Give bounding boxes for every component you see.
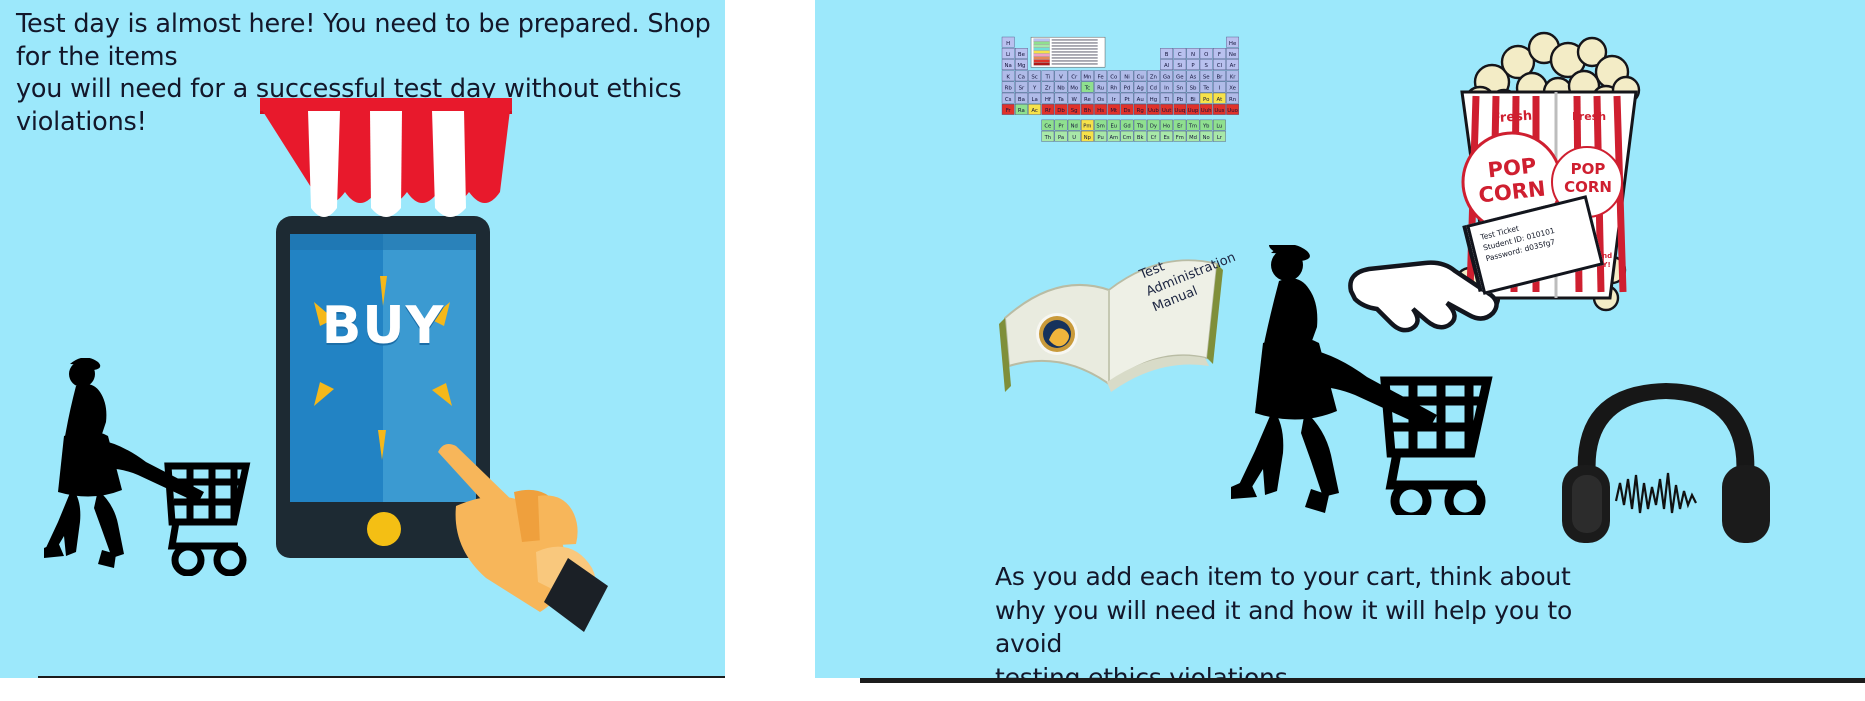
svg-text:Sc: Sc bbox=[1031, 74, 1037, 80]
periodic-table-grid: HHeLiBeBCNOFNeNaMgAlSiPSClArKCaScTiVCrMn… bbox=[1000, 35, 1252, 163]
svg-text:Ca: Ca bbox=[1018, 74, 1025, 80]
svg-text:Tb: Tb bbox=[1136, 124, 1144, 130]
svg-text:Rf: Rf bbox=[1045, 108, 1051, 114]
svg-text:Po: Po bbox=[1203, 97, 1209, 103]
svg-text:Ge: Ge bbox=[1176, 74, 1184, 80]
svg-text:Hf: Hf bbox=[1045, 97, 1051, 103]
svg-text:Se: Se bbox=[1203, 74, 1210, 80]
svg-text:Te: Te bbox=[1202, 86, 1209, 92]
svg-text:Tm: Tm bbox=[1188, 124, 1197, 130]
slide-right-panel: HHeLiBeBCNOFNeNaMgAlSiPSClArKCaScTiVCrMn… bbox=[815, 0, 1865, 678]
svg-text:Pb: Pb bbox=[1176, 97, 1183, 103]
svg-text:Tc: Tc bbox=[1084, 86, 1090, 92]
svg-text:Eu: Eu bbox=[1111, 124, 1118, 130]
popcorn-fresh-label-right: Fresh bbox=[1562, 110, 1616, 123]
online-store-phone-graphic: BUY bbox=[252, 88, 520, 558]
svg-text:As: As bbox=[1190, 74, 1197, 80]
svg-text:Cs: Cs bbox=[1005, 97, 1012, 103]
svg-text:Uus: Uus bbox=[1214, 108, 1224, 114]
svg-text:V: V bbox=[1059, 74, 1063, 80]
svg-text:Am: Am bbox=[1109, 135, 1118, 141]
svg-text:Al: Al bbox=[1164, 63, 1169, 69]
svg-text:Sm: Sm bbox=[1096, 124, 1104, 130]
svg-text:Ga: Ga bbox=[1163, 74, 1170, 80]
svg-text:Sr: Sr bbox=[1019, 86, 1025, 92]
svg-text:Bh: Bh bbox=[1084, 108, 1091, 114]
svg-text:Ta: Ta bbox=[1057, 97, 1064, 103]
svg-text:N: N bbox=[1191, 52, 1195, 58]
svg-text:K: K bbox=[1006, 74, 1010, 80]
svg-text:At: At bbox=[1217, 97, 1223, 103]
svg-text:Kr: Kr bbox=[1230, 74, 1237, 80]
svg-text:Bk: Bk bbox=[1137, 135, 1144, 141]
svg-text:Ho: Ho bbox=[1163, 124, 1170, 130]
svg-text:Cf: Cf bbox=[1151, 135, 1157, 141]
svg-text:Uup: Uup bbox=[1188, 108, 1199, 114]
svg-text:Cr: Cr bbox=[1071, 74, 1078, 80]
svg-text:Ra: Ra bbox=[1018, 108, 1025, 114]
svg-text:Ac: Ac bbox=[1031, 108, 1038, 114]
svg-text:Rb: Rb bbox=[1005, 86, 1013, 92]
svg-text:Pd: Pd bbox=[1124, 86, 1131, 92]
svg-text:Nd: Nd bbox=[1071, 124, 1078, 130]
svg-text:Th: Th bbox=[1044, 135, 1051, 141]
svg-text:Ag: Ag bbox=[1137, 86, 1144, 92]
slide-left-panel: Test day is almost here! You need to be … bbox=[0, 0, 725, 678]
svg-text:B: B bbox=[1165, 52, 1169, 58]
svg-text:H: H bbox=[1006, 41, 1010, 47]
svg-text:W: W bbox=[1072, 97, 1078, 103]
woman-with-shopping-cart-silhouette bbox=[1225, 245, 1515, 515]
svg-text:Si: Si bbox=[1177, 63, 1182, 69]
svg-text:Yb: Yb bbox=[1202, 124, 1210, 130]
svg-text:Uut: Uut bbox=[1162, 108, 1171, 114]
svg-text:No: No bbox=[1203, 135, 1210, 141]
svg-text:Cm: Cm bbox=[1123, 135, 1132, 141]
svg-text:Ce: Ce bbox=[1044, 124, 1051, 130]
svg-text:Ds: Ds bbox=[1124, 108, 1131, 114]
svg-text:Na: Na bbox=[1005, 63, 1012, 69]
slide-right-caption: As you add each item to your cart, think… bbox=[995, 560, 1615, 678]
svg-text:Rg: Rg bbox=[1137, 108, 1144, 114]
svg-text:Os: Os bbox=[1097, 97, 1104, 103]
svg-text:Nb: Nb bbox=[1057, 86, 1065, 92]
svg-text:Br: Br bbox=[1216, 74, 1223, 80]
svg-text:Pa: Pa bbox=[1058, 135, 1064, 141]
svg-text:Es: Es bbox=[1164, 135, 1170, 141]
svg-text:Hg: Hg bbox=[1150, 97, 1157, 103]
svg-text:He: He bbox=[1229, 41, 1237, 47]
pointing-hand-icon bbox=[418, 388, 608, 638]
svg-text:Db: Db bbox=[1057, 108, 1065, 114]
svg-text:Lr: Lr bbox=[1217, 135, 1223, 141]
svg-text:Cd: Cd bbox=[1150, 86, 1157, 92]
svg-text:Zn: Zn bbox=[1150, 74, 1157, 80]
svg-text:Mo: Mo bbox=[1070, 86, 1078, 92]
svg-text:Ni: Ni bbox=[1124, 74, 1130, 80]
svg-text:Cu: Cu bbox=[1137, 74, 1144, 80]
svg-text:Y: Y bbox=[1032, 86, 1037, 92]
svg-text:La: La bbox=[1031, 97, 1037, 103]
svg-text:Uuh: Uuh bbox=[1201, 108, 1212, 114]
headphones-icon bbox=[1560, 365, 1775, 545]
store-awning-icon bbox=[252, 88, 520, 228]
svg-text:Ne: Ne bbox=[1229, 52, 1237, 58]
svg-text:Sn: Sn bbox=[1176, 86, 1183, 92]
svg-text:Re: Re bbox=[1084, 97, 1092, 103]
popcorn-brand-line2-right: CORN bbox=[1562, 178, 1614, 196]
svg-text:Mn: Mn bbox=[1083, 74, 1091, 80]
slide-left-bottom-rule bbox=[38, 676, 725, 678]
svg-text:Co: Co bbox=[1110, 74, 1117, 80]
svg-text:Pt: Pt bbox=[1124, 97, 1129, 103]
phone-home-button[interactable] bbox=[367, 512, 401, 546]
svg-text:Pm: Pm bbox=[1083, 124, 1091, 130]
svg-text:U: U bbox=[1072, 135, 1076, 141]
periodic-table-of-elements: HHeLiBeBCNOFNeNaMgAlSiPSClArKCaScTiVCrMn… bbox=[1000, 35, 1252, 163]
svg-text:Au: Au bbox=[1137, 97, 1144, 103]
svg-text:Fr: Fr bbox=[1006, 108, 1012, 114]
svg-text:Er: Er bbox=[1177, 124, 1183, 130]
popcorn-brand-line1-right: POP bbox=[1562, 160, 1614, 178]
svg-text:Md: Md bbox=[1189, 135, 1197, 141]
svg-text:Ti: Ti bbox=[1044, 74, 1050, 80]
svg-text:Ar: Ar bbox=[1230, 63, 1237, 69]
svg-text:F: F bbox=[1218, 52, 1221, 58]
svg-text:O: O bbox=[1204, 52, 1208, 58]
svg-text:Uub: Uub bbox=[1148, 108, 1159, 114]
svg-text:Bi: Bi bbox=[1190, 97, 1195, 103]
svg-text:C: C bbox=[1178, 52, 1182, 58]
svg-text:Rh: Rh bbox=[1110, 86, 1117, 92]
svg-text:Ba: Ba bbox=[1018, 97, 1025, 103]
svg-text:Uuq: Uuq bbox=[1174, 108, 1185, 114]
svg-text:S: S bbox=[1204, 63, 1208, 69]
svg-text:Li: Li bbox=[1006, 52, 1011, 58]
svg-text:Hs: Hs bbox=[1097, 108, 1104, 114]
svg-text:Fe: Fe bbox=[1098, 74, 1105, 80]
svg-text:In: In bbox=[1164, 86, 1169, 92]
svg-text:Cl: Cl bbox=[1217, 63, 1222, 69]
svg-text:Mt: Mt bbox=[1110, 108, 1117, 114]
woman-with-shopping-cart-silhouette bbox=[40, 358, 268, 576]
svg-text:Uuo: Uuo bbox=[1227, 108, 1238, 114]
slide-right-bottom-rule bbox=[860, 678, 1865, 683]
svg-text:Sb: Sb bbox=[1190, 86, 1197, 92]
svg-text:Dy: Dy bbox=[1150, 124, 1157, 130]
svg-text:Be: Be bbox=[1018, 52, 1026, 58]
svg-text:Sg: Sg bbox=[1071, 108, 1078, 114]
svg-text:Rn: Rn bbox=[1229, 97, 1236, 103]
slide-stage: Test day is almost here! You need to be … bbox=[0, 0, 1865, 701]
buy-label[interactable]: BUY bbox=[290, 296, 476, 356]
svg-text:Gd: Gd bbox=[1123, 124, 1130, 130]
svg-text:Lu: Lu bbox=[1216, 124, 1222, 130]
svg-text:Zr: Zr bbox=[1045, 86, 1052, 92]
svg-text:Pu: Pu bbox=[1097, 135, 1103, 141]
svg-text:Np: Np bbox=[1084, 135, 1092, 141]
test-administration-manual: Test Administration Manual bbox=[995, 222, 1225, 397]
svg-text:Xe: Xe bbox=[1229, 86, 1236, 92]
svg-text:Pr: Pr bbox=[1058, 124, 1064, 130]
svg-text:Tl: Tl bbox=[1163, 97, 1169, 103]
svg-text:Mg: Mg bbox=[1017, 63, 1025, 69]
svg-text:Ru: Ru bbox=[1097, 86, 1104, 92]
headphones-graphic bbox=[1560, 365, 1775, 545]
svg-text:Fm: Fm bbox=[1176, 135, 1184, 141]
